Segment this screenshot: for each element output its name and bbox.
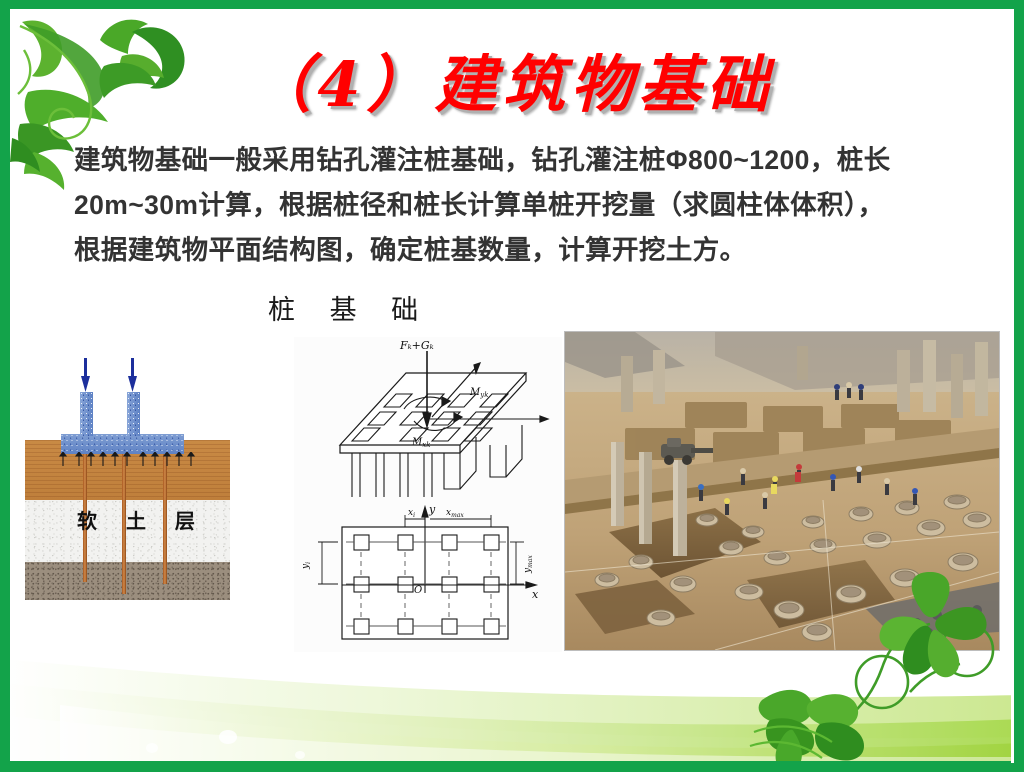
slide-border-bottom: [0, 761, 1024, 772]
label-fk-gk: Fₖ+Gₖ: [399, 339, 434, 352]
leaf-ornament-top-left: [4, 6, 214, 196]
slide-border-inner-top: [10, 9, 1014, 12]
label-ymax: ymax: [523, 555, 534, 574]
soil-layer-bearing: [25, 562, 230, 600]
presentation-slide: （4）建筑物基础 建筑物基础一般采用钻孔灌注桩基础，钻孔灌注桩Φ800~1200…: [0, 0, 1024, 772]
label-yi: yi: [301, 562, 312, 570]
label-xmax: xmax: [446, 508, 464, 519]
label-axis-x: x: [532, 588, 539, 601]
slide-border-left: [0, 0, 10, 772]
column-1: [80, 392, 93, 436]
pile-cap: [61, 434, 184, 454]
slide-border-inner-right: [1011, 9, 1014, 763]
figure-caption: 桩 基 础: [268, 288, 431, 327]
label-origin: O: [414, 585, 422, 596]
column-2: [127, 392, 140, 436]
pile-plan-layout-diagram: y x O xi xmax yi ymax: [294, 497, 562, 652]
reaction-arrows: [57, 452, 197, 468]
label-xi: xi: [408, 508, 415, 519]
pile-foundation-section-figure: 软 土 层: [25, 392, 230, 600]
load-arrow-icon-2: [128, 358, 137, 394]
leaf-ornament-bottom-right: [724, 572, 1024, 772]
load-arrow-icon-1: [81, 358, 90, 394]
slide-border-right: [1014, 0, 1024, 772]
pile-cap-force-diagram-figure: Fₖ+Gₖ Myk Mxk: [294, 337, 562, 652]
soil-layer-label: 软 土 层: [77, 505, 206, 534]
isometric-pile-cap-diagram: Fₖ+Gₖ Myk Mxk: [294, 337, 562, 497]
paragraph-line-3: 根据建筑物平面结构图，确定桩基数量，计算开挖土方。: [74, 228, 954, 273]
label-axis-y: y: [428, 503, 436, 516]
slide-border-top: [0, 0, 1024, 9]
